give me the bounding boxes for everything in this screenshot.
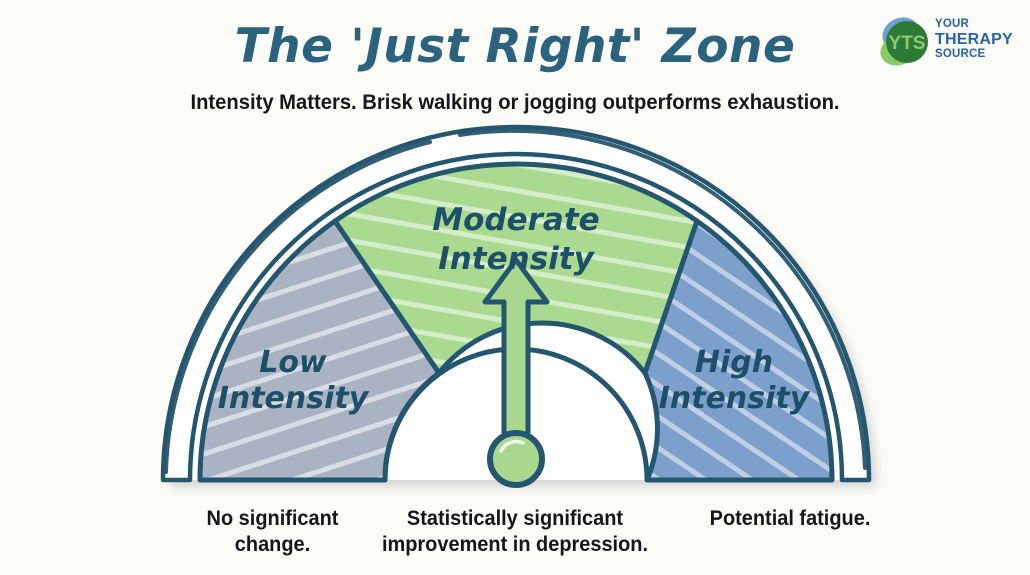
page-subtitle: Intensity Matters. Brisk walking or jogg… [31, 90, 999, 115]
gauge-hub [490, 433, 542, 485]
page-title: The 'Just Right' Zone [0, 22, 1030, 71]
moderate-label-line-1: Moderate [432, 202, 599, 238]
gauge-captions: No significant change. Statistically sig… [0, 500, 1030, 570]
caption-low-intensity: No significant change. [156, 506, 389, 559]
low-label-line-2: Intensity [218, 381, 370, 416]
intensity-gauge: Low Intensity Moderate Intensity High In… [130, 120, 920, 515]
caption-moderate-line-1: Statistically significant [368, 506, 663, 532]
caption-moderate-line-2: improvement in depression. [368, 532, 663, 558]
high-label-line-2: Intensity [659, 381, 811, 416]
moderate-label-line-2: Intensity [438, 241, 595, 277]
brand-logo[interactable]: YTS YOUR THERAPY SOURCE [877, 14, 1017, 72]
high-label-line-1: High [695, 345, 773, 380]
logo-wordmark: YOUR THERAPY SOURCE [935, 19, 1013, 60]
caption-low-line-1: No significant [156, 506, 389, 532]
logo-line-3: SOURCE [935, 49, 1013, 61]
caption-high-intensity: Potential fatigue. [652, 506, 928, 532]
logo-mark-icon: YTS [877, 14, 935, 69]
logo-mark-text: YTS [889, 33, 926, 54]
logo-line-2: THERAPY [935, 32, 1013, 48]
logo-line-1: YOUR [935, 19, 1013, 31]
caption-low-line-2: change. [156, 532, 389, 558]
low-label-line-1: Low [259, 345, 327, 380]
infographic-canvas: The 'Just Right' Zone Intensity Matters.… [0, 0, 1030, 575]
caption-high-line-1: Potential fatigue. [652, 506, 928, 532]
caption-moderate-intensity: Statistically significant improvement in… [368, 506, 663, 559]
gauge-svg: Low Intensity Moderate Intensity High In… [130, 120, 920, 515]
